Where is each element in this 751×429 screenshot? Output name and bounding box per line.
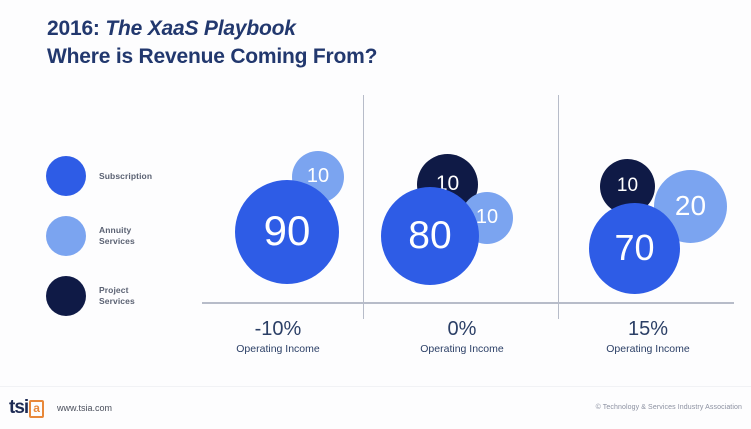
operating-income-label: Operating Income [188, 342, 368, 356]
tsia-logo: tsia [9, 398, 44, 419]
bubble-value-label: 10 [617, 176, 638, 195]
bubble-value-label: 70 [614, 230, 654, 266]
logo-text: tsi [9, 398, 28, 417]
bubble-value-label: 80 [408, 216, 451, 255]
bubble-value-label: 10 [307, 166, 329, 186]
footer-divider [0, 386, 751, 387]
group-caption-1: 0%Operating Income [372, 316, 552, 356]
group-caption-0: -10%Operating Income [188, 316, 368, 356]
bubble-subscription-90[interactable]: 90 [235, 180, 339, 284]
operating-income-value: -10% [188, 316, 368, 342]
operating-income-label: Operating Income [372, 342, 552, 356]
bubble-value-label: 20 [675, 192, 706, 220]
bubble-subscription-70[interactable]: 70 [589, 203, 680, 294]
bubble-chart: 9010-10%Operating Income8010100%Operatin… [0, 0, 751, 429]
group-caption-2: 15%Operating Income [558, 316, 738, 356]
operating-income-value: 15% [558, 316, 738, 342]
group-divider-2 [558, 95, 559, 319]
logo-accent-letter: a [29, 400, 44, 418]
footer-copyright: © Technology & Services Industry Associa… [596, 404, 742, 411]
x-axis-line [202, 302, 734, 304]
operating-income-value: 0% [372, 316, 552, 342]
bubble-subscription-80[interactable]: 80 [381, 187, 479, 285]
operating-income-label: Operating Income [558, 342, 738, 356]
slide-canvas: 2016: The XaaS Playbook Where is Revenue… [0, 0, 751, 429]
footer-url[interactable]: www.tsia.com [57, 403, 112, 413]
bubble-value-label: 10 [476, 207, 498, 227]
group-divider-1 [363, 95, 364, 319]
bubble-value-label: 90 [264, 210, 311, 252]
